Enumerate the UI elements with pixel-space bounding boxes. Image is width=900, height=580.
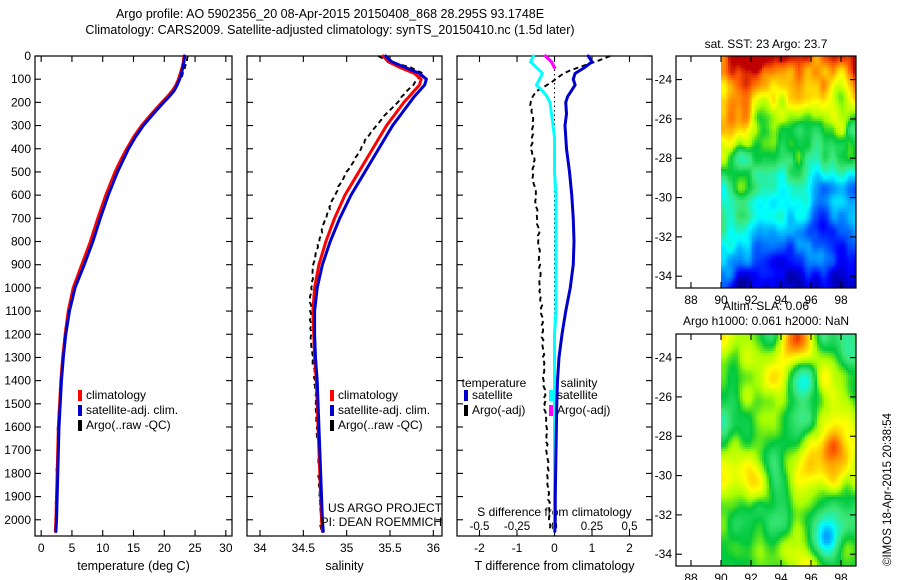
map-cell <box>812 61 815 64</box>
map-cell <box>841 135 844 138</box>
map-cell <box>786 123 789 126</box>
map-cell <box>829 114 832 117</box>
map-cell <box>733 241 736 244</box>
map-cell <box>851 68 854 71</box>
map-cell <box>827 183 830 186</box>
map-cell <box>851 166 854 169</box>
map-cell <box>740 157 743 160</box>
map-cell <box>829 246 832 249</box>
map-cell <box>767 106 770 109</box>
map-cell <box>853 250 856 253</box>
map-cell <box>755 234 758 237</box>
map-cell <box>733 202 736 205</box>
map-cell <box>805 219 808 222</box>
map-cell <box>793 121 796 124</box>
map-cell <box>841 82 844 85</box>
argo-adj-salinity-difference <box>546 56 555 68</box>
map-cell <box>757 164 760 167</box>
map-cell <box>757 128 760 131</box>
map-cell <box>807 176 810 179</box>
map-cell <box>728 234 731 237</box>
map-cell <box>846 207 849 210</box>
map-cell <box>774 248 777 251</box>
map-cell <box>846 63 849 66</box>
map-cell <box>817 85 820 88</box>
map-cell <box>750 99 753 102</box>
map-cell <box>752 234 755 237</box>
map-cell <box>834 210 837 213</box>
map-cell <box>786 207 789 210</box>
map-cell <box>788 231 791 234</box>
map-cell <box>755 219 758 222</box>
panel-salinity: 3434.53535.536salinityclimatologysatelli… <box>247 56 443 573</box>
map-cell <box>759 248 762 251</box>
map-cell <box>738 87 741 90</box>
map-cell <box>822 200 825 203</box>
map-cell <box>764 253 767 256</box>
map-cell <box>853 61 856 64</box>
map-cell <box>745 87 748 90</box>
map-cell <box>810 212 813 215</box>
map-cell <box>759 104 762 107</box>
map-cell <box>843 85 846 88</box>
map-cell <box>762 253 765 256</box>
map-cell <box>824 226 827 229</box>
map-cell <box>738 92 741 95</box>
map-cell <box>747 253 750 256</box>
map-cell <box>839 246 842 249</box>
map-cell <box>807 205 810 208</box>
map-cell <box>817 92 820 95</box>
map-cell <box>851 241 854 244</box>
map-cell <box>745 68 748 71</box>
map-cell <box>851 75 854 78</box>
map-cell <box>723 212 726 215</box>
map-cell <box>800 68 803 71</box>
map-cell <box>764 121 767 124</box>
map-cell <box>795 111 798 114</box>
map-cell <box>735 66 738 69</box>
map-cell <box>839 154 842 157</box>
map-cell <box>767 116 770 119</box>
map-cell <box>759 85 762 88</box>
map-cell <box>798 250 801 253</box>
map-cell <box>817 111 820 114</box>
map-cell <box>815 231 818 234</box>
map-cell <box>762 176 765 179</box>
map-cell <box>822 66 825 69</box>
map-cell <box>798 138 801 141</box>
map-cell <box>728 118 731 121</box>
map-cell <box>755 135 758 138</box>
map-cell <box>819 68 822 71</box>
map-cell <box>764 104 767 107</box>
map-cell <box>771 133 774 136</box>
map-cell <box>767 73 770 76</box>
map-cell <box>795 97 798 100</box>
map-cell <box>776 58 779 61</box>
map-cell <box>824 111 827 114</box>
map-cell <box>851 212 854 215</box>
map-cell <box>733 142 736 145</box>
map-cell <box>810 147 813 150</box>
map-cell <box>781 250 784 253</box>
map-cell <box>810 205 813 208</box>
map-cell <box>757 145 760 148</box>
map-cell <box>798 128 801 131</box>
map-cell <box>783 97 786 100</box>
map-cell <box>812 70 815 73</box>
map-cell <box>846 253 849 256</box>
map-cell <box>750 195 753 198</box>
map-cell <box>834 85 837 88</box>
map-cell <box>841 106 844 109</box>
map-cell <box>726 152 729 155</box>
map-cell <box>846 118 849 121</box>
map-cell <box>793 210 796 213</box>
map-cell <box>767 207 770 210</box>
map-cell <box>793 178 796 181</box>
map-cell <box>783 87 786 90</box>
map-cell <box>755 58 758 61</box>
map-cell <box>805 202 808 205</box>
map-cell <box>836 243 839 246</box>
map-cell <box>793 164 796 167</box>
map-cell <box>791 198 794 201</box>
map-cell <box>793 159 796 162</box>
map-cell <box>779 97 782 100</box>
map-cell <box>834 109 837 112</box>
map-cell <box>800 162 803 165</box>
map-cell <box>800 128 803 131</box>
map-cell <box>819 171 822 174</box>
map-cell <box>745 75 748 78</box>
map-cell <box>822 92 825 95</box>
map-cell <box>831 82 834 85</box>
map-cell <box>805 70 808 73</box>
map-cell <box>755 171 758 174</box>
map-cell <box>786 130 789 133</box>
map-cell <box>843 243 846 246</box>
map-cell <box>767 210 770 213</box>
map-cell <box>829 193 832 196</box>
map-cell <box>723 248 726 251</box>
map-cell <box>726 106 729 109</box>
map-cell <box>738 159 741 162</box>
map-cell <box>781 68 784 71</box>
map-cell <box>755 80 758 83</box>
map-cell <box>807 90 810 93</box>
map-cell <box>817 210 820 213</box>
map-cell <box>752 104 755 107</box>
map-cell <box>781 147 784 150</box>
map-cell <box>776 118 779 121</box>
map-cell <box>812 190 815 193</box>
map-cell <box>788 135 791 138</box>
map-cell <box>819 190 822 193</box>
map-cell <box>839 104 842 107</box>
map-cell <box>798 92 801 95</box>
map-cell <box>735 140 738 143</box>
map-cell <box>776 169 779 172</box>
map-cell <box>745 183 748 186</box>
map-cell <box>752 135 755 138</box>
map-cell <box>836 222 839 225</box>
map-cell <box>851 226 854 229</box>
map-cell <box>786 238 789 241</box>
map-cell <box>731 181 734 184</box>
map-cell <box>798 202 801 205</box>
map-cell <box>752 169 755 172</box>
map-cell <box>851 171 854 174</box>
map-cell <box>831 109 834 112</box>
map-cell <box>771 236 774 239</box>
map-cell <box>769 174 772 177</box>
map-cell <box>788 111 791 114</box>
map-cell <box>839 193 842 196</box>
map-cell <box>810 231 813 234</box>
map-cell <box>771 210 774 213</box>
map-cell <box>841 241 844 244</box>
map-cell <box>733 236 736 239</box>
map-cell <box>723 219 726 222</box>
map-cell <box>817 226 820 229</box>
map-cell <box>800 87 803 90</box>
map-cell <box>738 186 741 189</box>
map-cell <box>759 159 762 162</box>
map-cell <box>798 183 801 186</box>
map-cell <box>848 140 851 143</box>
map-cell <box>764 248 767 251</box>
map-cell <box>781 118 784 121</box>
map-cell <box>803 219 806 222</box>
map-cell <box>810 154 813 157</box>
map-cell <box>755 75 758 78</box>
map-cell <box>846 82 849 85</box>
map-cell <box>831 200 834 203</box>
map-cell <box>810 210 813 213</box>
map-cell <box>759 126 762 129</box>
map-cell <box>851 164 854 167</box>
map-cell <box>843 229 846 232</box>
map-cell <box>824 102 827 105</box>
map-cell <box>755 224 758 227</box>
map-cell <box>846 195 849 198</box>
map-cell <box>771 73 774 76</box>
map-cell <box>745 147 748 150</box>
map-cell <box>800 159 803 162</box>
map-cell <box>817 159 820 162</box>
map-cell <box>733 61 736 64</box>
map-cell <box>731 200 734 203</box>
map-cell <box>788 188 791 191</box>
map-cell <box>812 214 815 217</box>
temperature-y-axis: 0100200300400500600700800900100011001200… <box>4 49 232 527</box>
map-cell <box>846 152 849 155</box>
map-cell <box>747 75 750 78</box>
map-cell <box>752 157 755 160</box>
map-cell <box>829 178 832 181</box>
map-cell <box>831 238 834 241</box>
map-cell <box>834 234 837 237</box>
map-cell <box>750 166 753 169</box>
map-cell <box>803 178 806 181</box>
map-cell <box>834 229 837 232</box>
map-cell <box>783 243 786 246</box>
map-cell <box>788 68 791 71</box>
map-cell <box>843 176 846 179</box>
map-cell <box>836 200 839 203</box>
map-cell <box>795 169 798 172</box>
map-cell <box>834 246 837 249</box>
map-cell <box>750 106 753 109</box>
map-cell <box>757 253 760 256</box>
map-cell <box>827 142 830 145</box>
x-tick-label: 25 <box>188 541 202 555</box>
map-cell <box>774 238 777 241</box>
map-cell <box>721 198 724 201</box>
map-cell <box>815 70 818 73</box>
map-cell <box>853 166 856 169</box>
map-cell <box>831 68 834 71</box>
map-cell <box>735 224 738 227</box>
map-cell <box>721 186 724 189</box>
map-cell <box>759 224 762 227</box>
map-cell <box>767 253 770 256</box>
map-cell <box>721 128 724 131</box>
map-cell <box>740 111 743 114</box>
map-cell <box>762 190 765 193</box>
map-cell <box>791 104 794 107</box>
map-cell <box>762 193 765 196</box>
map-cell <box>815 195 818 198</box>
map-cell <box>783 176 786 179</box>
map-cell <box>786 90 789 93</box>
map-cell <box>776 234 779 237</box>
map-cell <box>791 133 794 136</box>
map-cell <box>786 92 789 95</box>
map-cell <box>846 250 849 253</box>
map-cell <box>776 140 779 143</box>
map-cell <box>805 82 808 85</box>
map-cell <box>807 66 810 69</box>
map-cell <box>824 123 827 126</box>
map-cell <box>836 248 839 251</box>
map-cell <box>791 58 794 61</box>
map-cell <box>839 123 842 126</box>
map-cell <box>762 121 765 124</box>
map-cell <box>747 174 750 177</box>
map-cell <box>836 210 839 213</box>
map-cell <box>735 82 738 85</box>
map-cell <box>788 176 791 179</box>
map-cell <box>759 169 762 172</box>
map-cell <box>747 145 750 148</box>
map-cell <box>776 97 779 100</box>
map-cell <box>831 157 834 160</box>
map-cell <box>771 142 774 145</box>
map-cell <box>767 97 770 100</box>
map-cell <box>771 99 774 102</box>
map-sea-surface-temperature-cells <box>721 56 856 288</box>
map-cell <box>812 94 815 97</box>
map-cell <box>774 243 777 246</box>
map-cell <box>795 147 798 150</box>
map-cell <box>841 162 844 165</box>
map-cell <box>779 73 782 76</box>
map-cell <box>819 207 822 210</box>
map-cell <box>783 109 786 112</box>
map-cell <box>726 111 729 114</box>
map-cell <box>836 154 839 157</box>
map-cell <box>779 114 782 117</box>
map-cell <box>735 174 738 177</box>
map-cell <box>774 169 777 172</box>
map-cell <box>771 174 774 177</box>
map-cell <box>846 193 849 196</box>
map-cell <box>827 94 830 97</box>
map-cell <box>762 248 765 251</box>
map-cell <box>851 87 854 90</box>
map-cell <box>817 147 820 150</box>
salinity-axes-frame <box>247 56 442 536</box>
map-cell <box>817 234 820 237</box>
map-cell <box>822 94 825 97</box>
map-cell <box>743 128 746 131</box>
map-cell <box>851 224 854 227</box>
map-cell <box>810 219 813 222</box>
map-cell <box>738 90 741 93</box>
map-cell <box>755 243 758 246</box>
map-cell <box>757 87 760 90</box>
map-cell <box>762 241 765 244</box>
map-cell <box>745 219 748 222</box>
map-cell <box>810 164 813 167</box>
map-cell <box>805 104 808 107</box>
map-cell <box>793 174 796 177</box>
map-cell <box>755 231 758 234</box>
map-cell <box>781 164 784 167</box>
map-cell <box>810 82 813 85</box>
map-cell <box>848 90 851 93</box>
map-cell <box>791 190 794 193</box>
map-cell <box>776 68 779 71</box>
map-cell <box>774 234 777 237</box>
map-cell <box>831 164 834 167</box>
map-cell <box>781 92 784 95</box>
map-cell <box>745 162 748 165</box>
map-cell <box>774 224 777 227</box>
map-cell <box>829 174 832 177</box>
map-cell <box>783 205 786 208</box>
map-cell <box>839 219 842 222</box>
map-cell <box>759 87 762 90</box>
map-cell <box>846 138 849 141</box>
map-cell <box>788 169 791 172</box>
map-cell <box>815 171 818 174</box>
legend-swatch <box>464 405 468 416</box>
panel-difference: -2-1012T difference from climatology-0.5… <box>457 56 652 573</box>
map-cell <box>767 68 770 71</box>
map-cell <box>726 248 729 251</box>
map-cell <box>779 253 782 256</box>
map-cell <box>829 80 832 83</box>
map-cell <box>827 114 830 117</box>
map-cell <box>747 66 750 69</box>
map-cell <box>750 92 753 95</box>
map-cell <box>750 181 753 184</box>
map-cell <box>853 152 856 155</box>
